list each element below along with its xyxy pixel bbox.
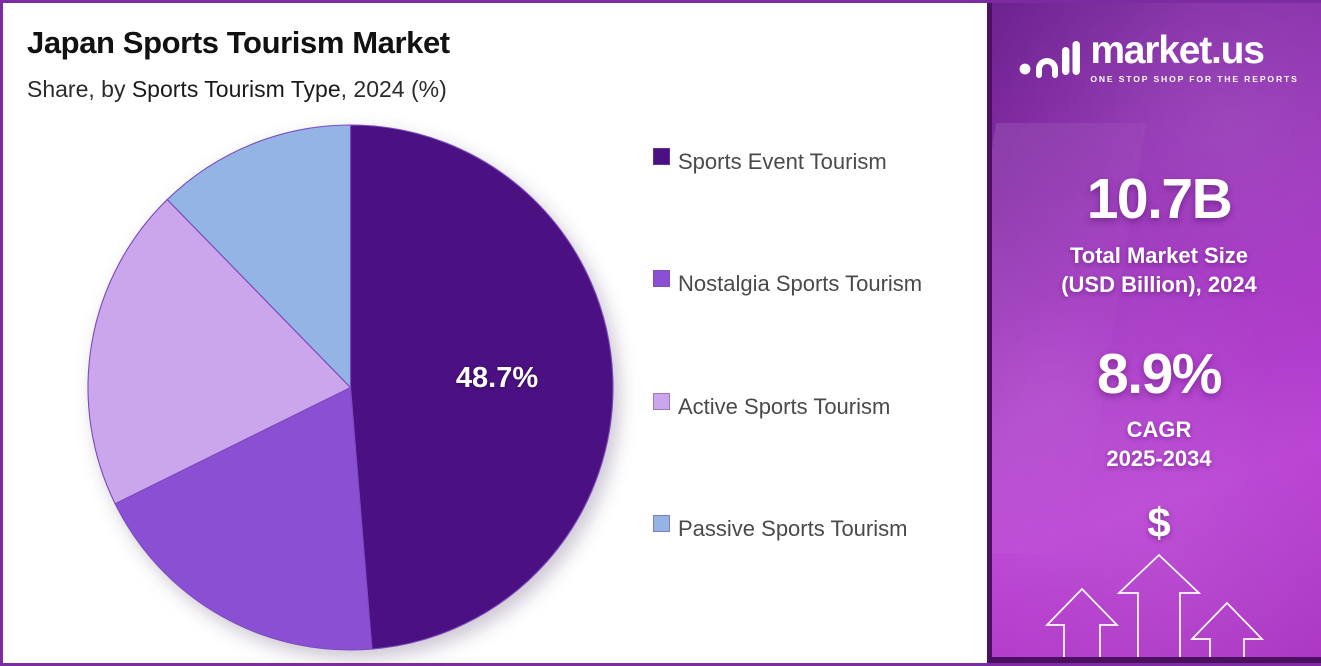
subtitle-suffix: , 2024 (%) — [341, 76, 447, 102]
pie-slice-0[interactable] — [351, 125, 613, 649]
infographic-frame: Japan Sports Tourism Market Share, by Sp… — [0, 0, 1321, 666]
growth-graphic: $ — [992, 493, 1321, 663]
stat-cagr-label-line1: CAGR — [992, 415, 1321, 444]
legend-item-label: Passive Sports Tourism — [678, 510, 907, 548]
legend-item-label: Sports Event Tourism — [678, 143, 887, 181]
side-panel: market.us ONE STOP SHOP FOR THE REPORTS … — [987, 3, 1321, 663]
page-title: Japan Sports Tourism Market — [27, 25, 450, 61]
legend-item-2[interactable]: Active Sports Tourism — [653, 388, 983, 426]
stat-market-size-label-line1: Total Market Size — [992, 241, 1321, 270]
dollar-sign-icon: $ — [992, 499, 1321, 547]
legend-swatch-icon — [653, 148, 670, 165]
stat-cagr-label: CAGR 2025-2034 — [992, 415, 1321, 473]
page-subtitle: Share, by Sports Tourism Type, 2024 (%) — [27, 76, 447, 103]
legend-swatch-icon — [653, 515, 670, 532]
chart-panel: Japan Sports Tourism Market Share, by Sp… — [3, 3, 987, 663]
pie-slices — [88, 125, 613, 650]
legend-swatch-icon — [653, 270, 670, 287]
pie-svg — [87, 124, 614, 651]
logo-tagline: ONE STOP SHOP FOR THE REPORTS — [1090, 74, 1298, 84]
legend-item-3[interactable]: Passive Sports Tourism — [653, 510, 983, 548]
pie-chart: 48.7% — [87, 124, 614, 651]
stat-cagr-value: 8.9% — [992, 341, 1321, 407]
market-us-bars-icon — [1019, 38, 1081, 78]
legend-item-1[interactable]: Nostalgia Sports Tourism — [653, 265, 983, 303]
logo-wordmark: market.us — [1090, 31, 1298, 70]
stat-cagr-label-line2: 2025-2034 — [992, 444, 1321, 473]
legend-item-0[interactable]: Sports Event Tourism — [653, 143, 983, 181]
legend-item-label: Nostalgia Sports Tourism — [678, 265, 922, 303]
subtitle-prefix: Share, by — [27, 76, 132, 102]
brand-logo: market.us ONE STOP SHOP FOR THE REPORTS — [992, 31, 1321, 84]
subtitle-emphasis: Sports Tourism Type — [132, 76, 341, 102]
legend-swatch-icon — [653, 393, 670, 410]
stat-market-size-label: Total Market Size (USD Billion), 2024 — [992, 241, 1321, 299]
logo-text-block: market.us ONE STOP SHOP FOR THE REPORTS — [1090, 31, 1298, 84]
legend-item-label: Active Sports Tourism — [678, 388, 890, 426]
stat-market-size-label-line2: (USD Billion), 2024 — [992, 270, 1321, 299]
stat-market-size-value: 10.7B — [992, 166, 1321, 232]
panel-bottom-strip — [992, 657, 1321, 663]
